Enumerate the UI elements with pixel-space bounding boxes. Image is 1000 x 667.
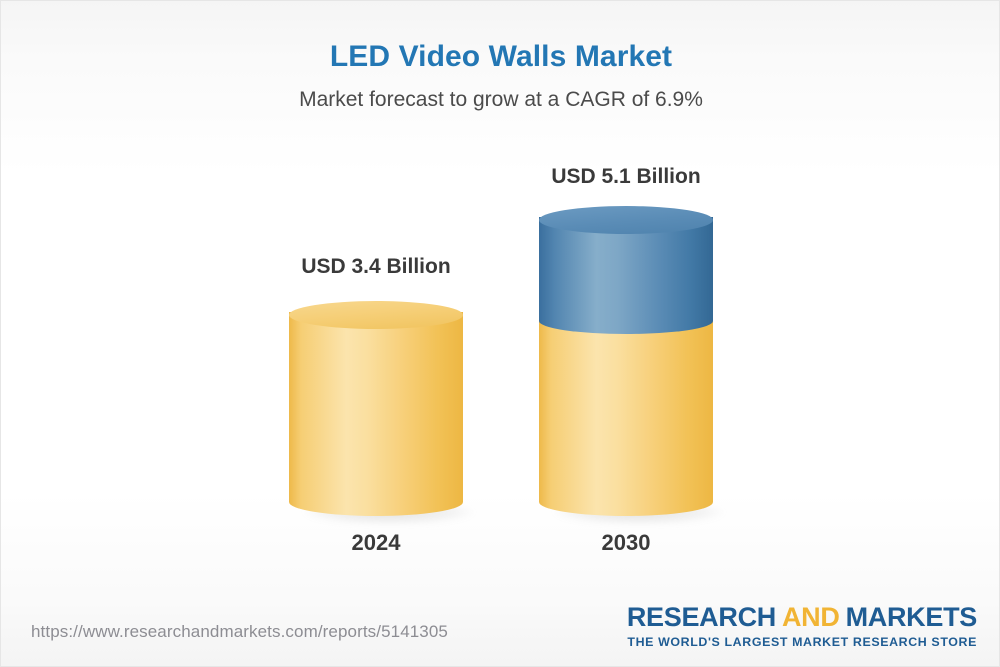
report-url[interactable]: https://www.researchandmarkets.com/repor… <box>31 621 448 643</box>
logo-tagline: THE WORLD'S LARGEST MARKET RESEARCH STOR… <box>627 632 977 650</box>
category-label-2030: 2030 <box>496 529 756 557</box>
chart-header: LED Video Walls Market Market forecast t… <box>1 1 1000 114</box>
logo-wordmark: RESEARCHANDMARKETS <box>627 602 977 632</box>
value-label-2024: USD 3.4 Billion <box>246 254 506 280</box>
cylinder-bar-2030 <box>539 206 713 516</box>
cylinder-body <box>539 217 713 516</box>
cylinder-segment-base <box>539 321 713 516</box>
category-label-2024: 2024 <box>246 529 506 557</box>
page-title: LED Video Walls Market <box>1 37 1000 77</box>
infographic-canvas: LED Video Walls Market Market forecast t… <box>0 0 1000 667</box>
brand-logo[interactable]: RESEARCHANDMARKETS THE WORLD'S LARGEST M… <box>627 602 977 650</box>
cylinder-body <box>289 312 463 516</box>
cylinder-bar-2024 <box>289 301 463 516</box>
chart-subtitle: Market forecast to grow at a CAGR of 6.9… <box>1 77 1000 114</box>
cylinder-segment-growth <box>539 217 713 334</box>
cylinder-segment-base <box>289 312 463 516</box>
logo-word-and: AND <box>776 602 846 632</box>
cylinder-top-cap <box>539 206 713 234</box>
chart-plot-area: USD 3.4 Billion 2024 USD 5.1 Billion <box>1 141 1000 581</box>
cylinder-top-cap <box>289 301 463 329</box>
logo-word-research: RESEARCH <box>627 602 776 632</box>
logo-word-markets: MARKETS <box>846 602 977 632</box>
value-label-2030: USD 5.1 Billion <box>496 164 756 190</box>
